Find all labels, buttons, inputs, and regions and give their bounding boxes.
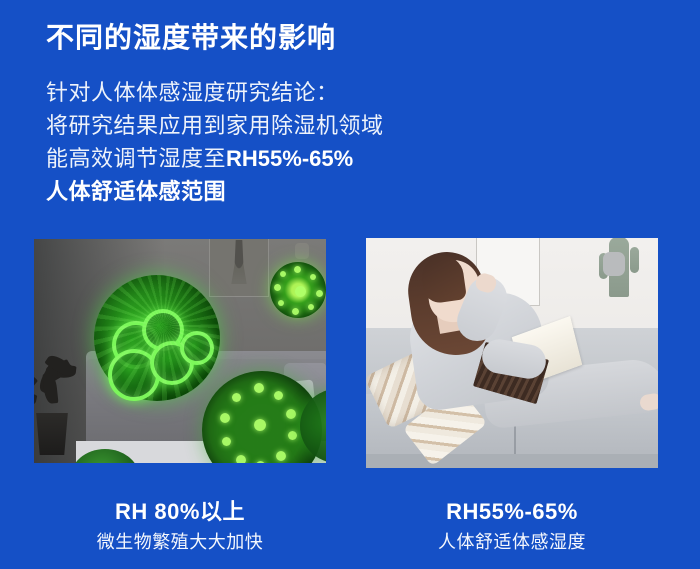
wall-speaker-icon <box>603 252 625 276</box>
page-title: 不同的湿度带来的影响 <box>46 18 336 58</box>
intro-paragraph: 针对人体体感湿度研究结论： 将研究结果应用到家用除湿机领域 能高效调节湿度至RH… <box>46 76 384 208</box>
caption-comfort-humidity: RH55%-65% 人体舒适体感湿度 <box>366 498 658 555</box>
woman-reading-illustration <box>366 238 658 468</box>
caption-subtitle: 人体舒适体感湿度 <box>366 529 658 555</box>
microbe-cell <box>112 321 160 369</box>
photo-panel-comfort-humidity <box>366 238 658 468</box>
wall-art-frame-icon <box>209 239 269 297</box>
microbe-cell <box>142 309 184 351</box>
plant-leaves <box>34 327 98 419</box>
microbe-cell <box>108 349 160 401</box>
intro-line-3: 能高效调节湿度至RH55%-65% <box>46 142 384 175</box>
microbe-blob-large <box>94 275 220 401</box>
sofa-base <box>366 454 658 468</box>
plant-pot <box>34 413 70 455</box>
intro-line-3-prefix: 能高效调节湿度至 <box>46 146 226 171</box>
caption-subtitle: 微生物繁殖大大加快 <box>34 529 326 555</box>
microbe-cell <box>150 341 194 385</box>
microbe-blob-small <box>270 262 326 318</box>
intro-humidity-range: RH55%-65% <box>226 146 353 171</box>
caption-high-humidity: RH 80%以上 微生物繁殖大大加快 <box>34 498 326 555</box>
photo-panel-high-humidity <box>34 239 326 463</box>
intro-line-1: 针对人体体感湿度研究结论： <box>46 76 384 109</box>
wall-speaker-icon <box>295 243 309 259</box>
intro-line-2: 将研究结果应用到家用除湿机领域 <box>46 109 384 142</box>
humidity-infographic-poster: 不同的湿度带来的影响 针对人体体感湿度研究结论： 将研究结果应用到家用除湿机领域… <box>0 0 700 569</box>
intro-line-4: 人体舒适体感范围 <box>46 175 384 208</box>
caption-title: RH 80%以上 <box>34 498 326 526</box>
microbe-cell <box>180 331 214 365</box>
microbe-room-illustration <box>34 239 326 463</box>
caption-title: RH55%-65% <box>366 498 658 526</box>
